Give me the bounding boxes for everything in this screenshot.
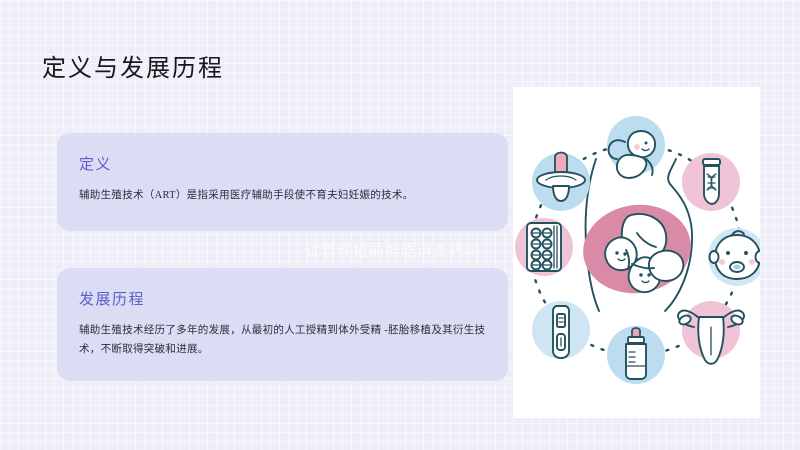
page-title: 定义与发展历程 (42, 48, 224, 83)
pill-blister-icon (515, 218, 573, 276)
pregnancy-test-icon (532, 301, 590, 359)
illustration-panel: .ln { fill:none; stroke:#23525f; stroke-… (513, 87, 760, 418)
history-card: 发展历程 辅助生殖技术经历了多年的发展，从最初的人工授精到体外受精 -胚胎移植及… (57, 268, 508, 381)
definition-card-heading: 定义 (79, 153, 486, 174)
history-card-body: 辅助生殖技术经历了多年的发展，从最初的人工授精到体外受精 -胚胎移植及其衍生技术… (79, 321, 486, 360)
dna-test-tube-icon (682, 153, 740, 211)
slide: 定义与发展历程 定义 辅助生殖技术（ART）是指采用医疗辅助手段使不育夫妇妊娠的… (0, 0, 800, 450)
uterus-icon (678, 301, 744, 364)
baby-face-icon (708, 228, 760, 286)
baby-bottle-icon (607, 326, 665, 384)
history-card-heading: 发展历程 (79, 288, 486, 309)
watermark-text: 试管移植前能吃消炎药吗 (305, 240, 481, 261)
fetus-icon (607, 116, 665, 178)
definition-card-body: 辅助生殖技术（ART）是指采用医疗辅助手段使不育夫妇妊娠的技术。 (79, 186, 486, 205)
definition-card: 定义 辅助生殖技术（ART）是指采用医疗辅助手段使不育夫妇妊娠的技术。 (57, 133, 508, 231)
pacifier-icon (532, 153, 590, 212)
pregnant-belly-silhouette (577, 159, 696, 311)
